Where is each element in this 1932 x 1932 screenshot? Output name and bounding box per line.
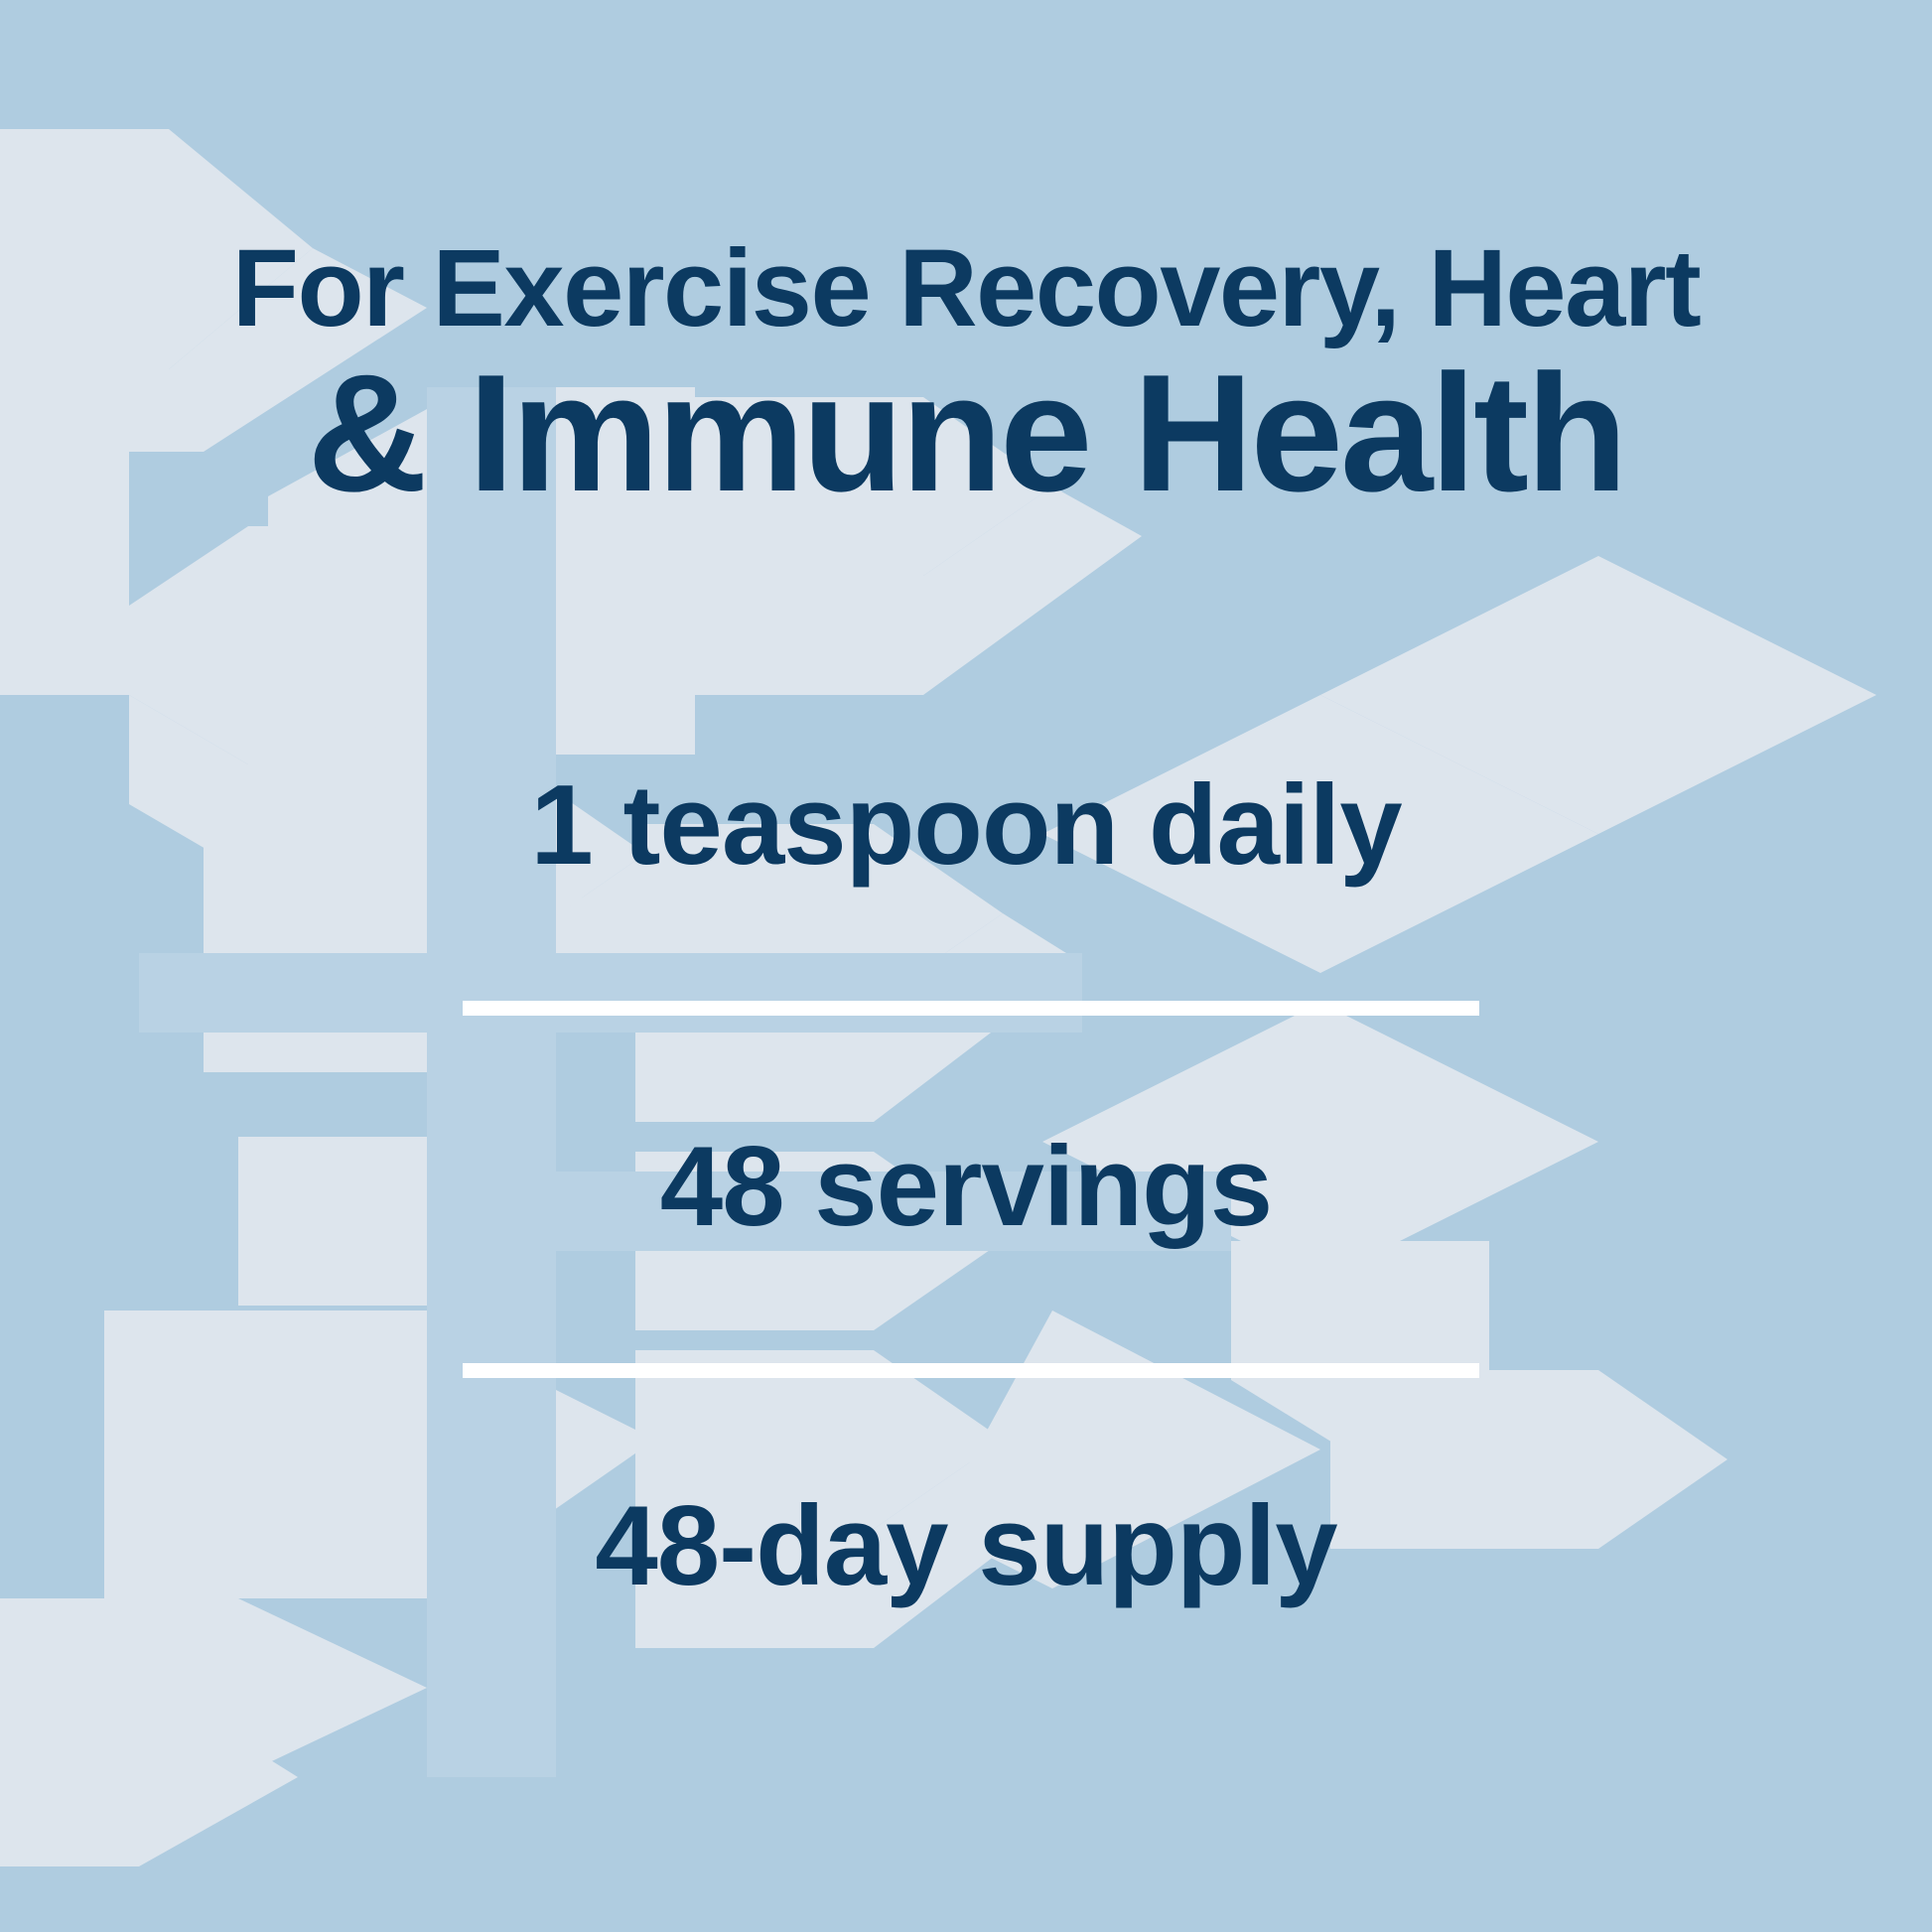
headline-line-2: & Immune Health: [0, 349, 1932, 516]
fact-servings: 48 servings: [0, 1122, 1932, 1252]
card-content: For Exercise Recovery, Heart & Immune He…: [0, 0, 1932, 1932]
divider-rule-top: [463, 1001, 1479, 1016]
fact-supply-duration: 48-day supply: [0, 1481, 1932, 1611]
product-benefit-card: For Exercise Recovery, Heart & Immune He…: [0, 0, 1932, 1932]
fact-dosage: 1 teaspoon daily: [0, 760, 1932, 891]
headline-line-1: For Exercise Recovery, Heart: [0, 234, 1932, 344]
headline: For Exercise Recovery, Heart & Immune He…: [0, 234, 1932, 516]
divider-rule-bottom: [463, 1363, 1479, 1378]
